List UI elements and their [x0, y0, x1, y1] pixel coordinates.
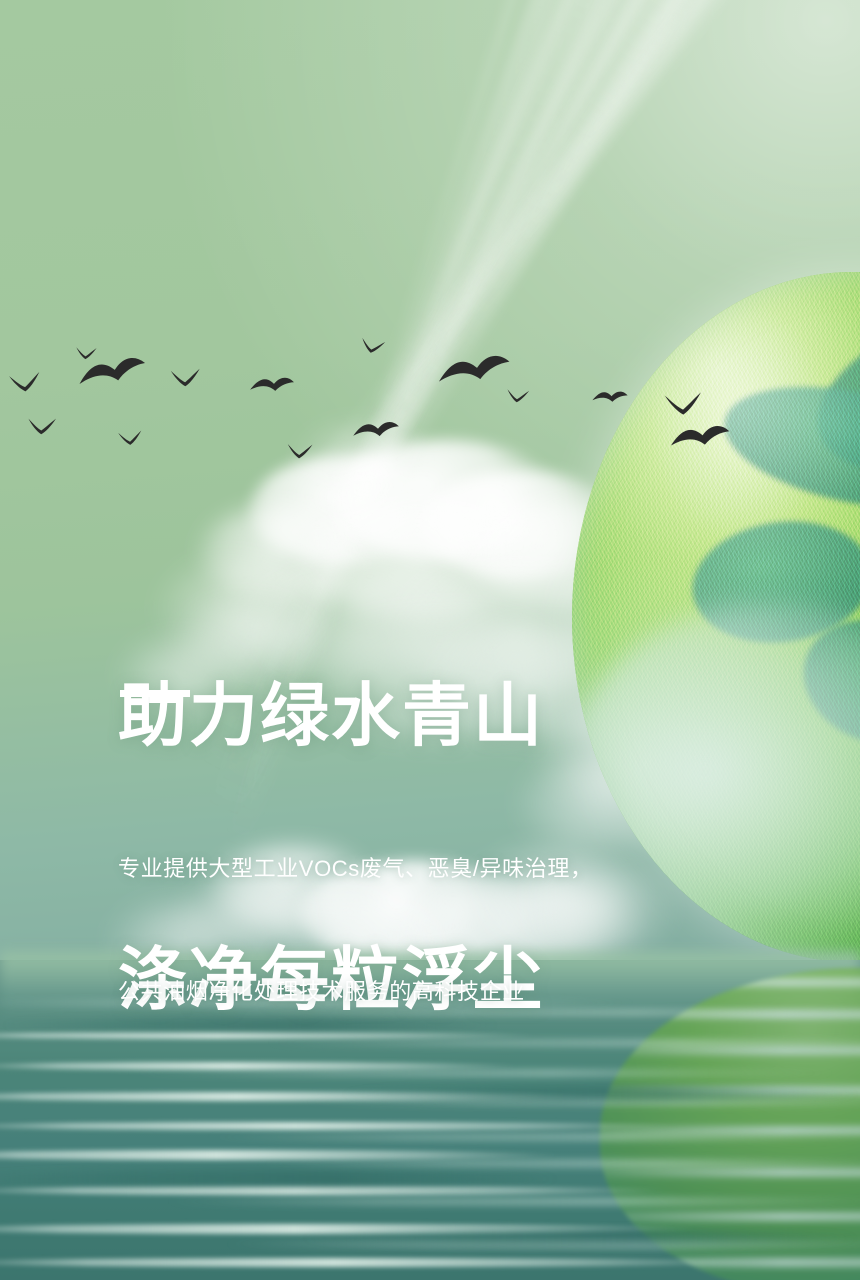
bird-icon: [27, 415, 73, 439]
bird-icon: [663, 387, 724, 420]
bird-icon: [505, 386, 543, 408]
eco-promo-poster: 助力绿水青山 涤净每粒浮尘 专业提供大型工业VOCs废气、恶臭/异味治理， 公共…: [0, 0, 860, 1280]
reflection-ripple: [600, 978, 860, 987]
subtitle-line-1: 专业提供大型工业VOCs废气、恶臭/异味治理，: [118, 848, 593, 889]
bird-icon: [248, 372, 297, 398]
bird-icon: [170, 365, 219, 391]
headline-divider: [120, 690, 190, 697]
bird-icon: [350, 416, 402, 445]
reflection-ripple: [600, 1212, 860, 1221]
bird-icon: [358, 335, 400, 362]
bird-icon: [286, 441, 328, 464]
headline-line-1: 助力绿水青山: [118, 672, 544, 760]
bird-flock: [0, 330, 520, 470]
subtitle-line-2: 公共油烟净化处理技术服务的高科技企业: [118, 971, 593, 1012]
subtitle: 专业提供大型工业VOCs废气、恶臭/异味治理， 公共油烟净化处理技术服务的高科技…: [118, 766, 593, 1094]
bird-icon: [432, 345, 516, 395]
bird-icon: [666, 418, 734, 457]
reflection-ripple: [600, 1046, 860, 1055]
bird-icon: [117, 427, 157, 449]
bird-icon: [591, 387, 629, 406]
reflection-ripple: [600, 1168, 860, 1177]
water-ripple: [300, 1230, 860, 1246]
bird-icon: [8, 367, 61, 397]
